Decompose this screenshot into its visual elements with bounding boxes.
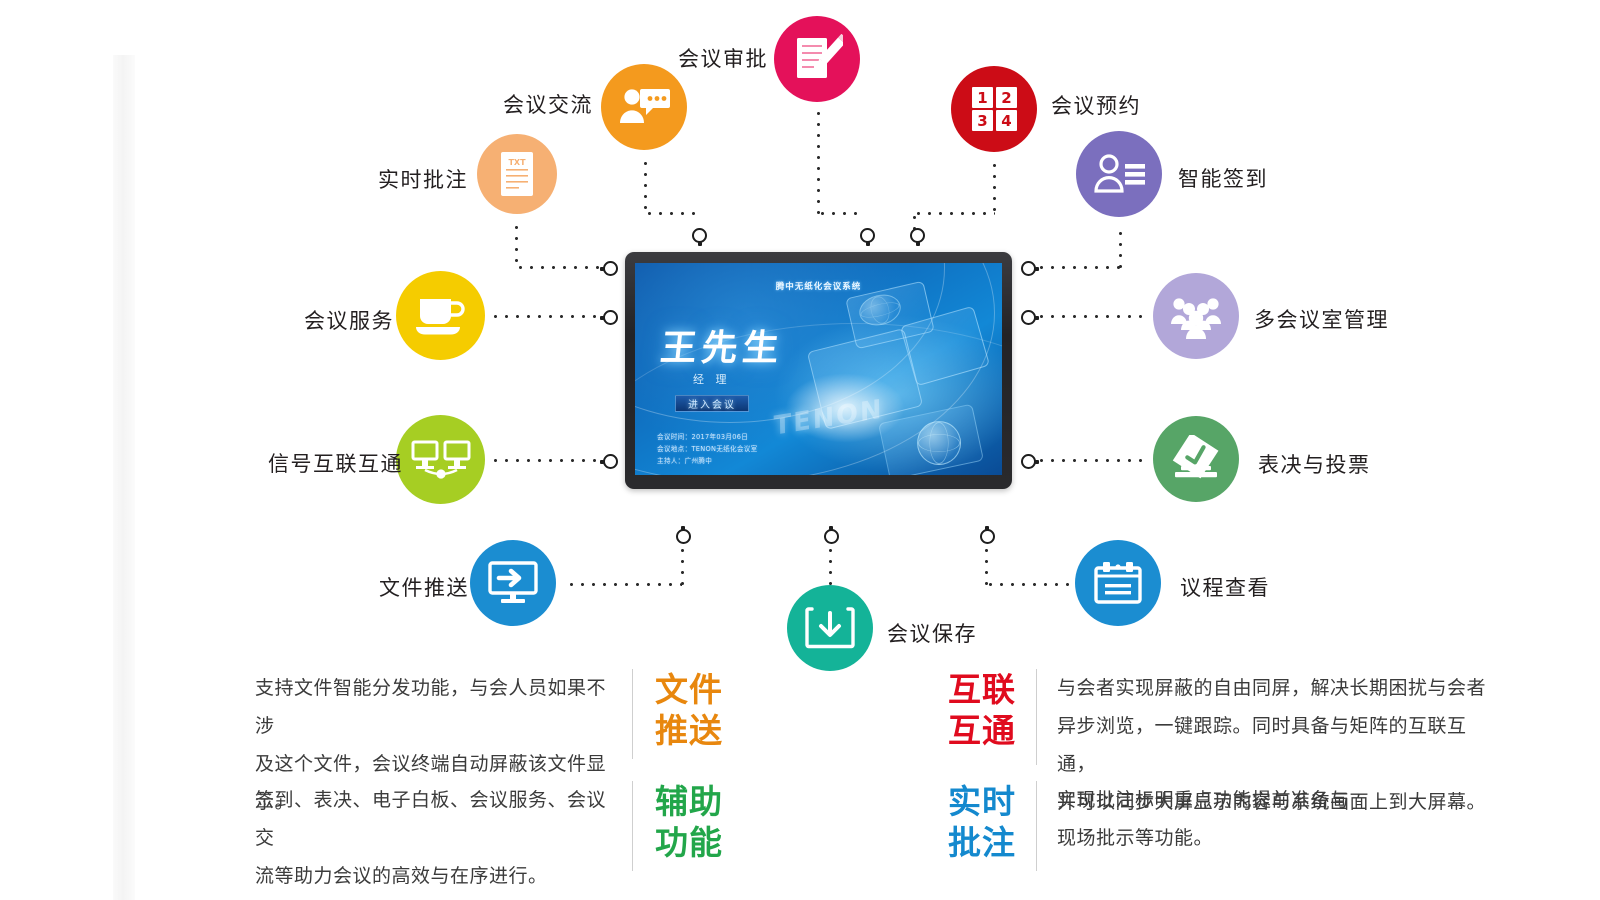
connector-endpoint xyxy=(980,529,995,544)
connector-line xyxy=(1119,228,1122,268)
coffee-cup-icon xyxy=(396,271,485,360)
feature-desc-aux-function: 签到、表决、电子白板、会议服务、会议交 流等助力会议的高效与在序进行。 xyxy=(255,781,610,895)
node-label-signal-interconnect: 信号互联互通 xyxy=(268,448,403,478)
two-monitors-icon xyxy=(396,415,485,504)
connector-endpoint xyxy=(860,228,875,243)
node-label-meeting-service: 会议服务 xyxy=(304,305,394,335)
svg-text:2: 2 xyxy=(1001,89,1011,107)
feature-block-realtime-annotation: 实时 批注 实现批注标明重点功能提前准备与 现场批示等功能。 xyxy=(948,781,1497,871)
display-enter-meeting-button[interactable]: 进入会议 xyxy=(675,395,749,412)
connector-endpoint xyxy=(676,529,691,544)
feature-divider xyxy=(1036,781,1037,871)
person-list-icon xyxy=(1076,131,1162,217)
connector-endpoint xyxy=(1021,261,1036,276)
connector-endpoint xyxy=(692,228,707,243)
agenda-board-icon xyxy=(1075,540,1161,626)
connector-line xyxy=(490,459,603,462)
connector-line xyxy=(490,315,603,318)
connector-line xyxy=(1036,266,1121,269)
svg-text:TXT: TXT xyxy=(508,158,526,167)
connector-endpoint xyxy=(603,310,618,325)
display-screen: TENON 腾中无纸化会议系统 王先生 经 理 进入会议 会议时间：2017年0… xyxy=(635,263,1002,475)
decorative-globe xyxy=(917,421,961,465)
display-meta-time: 会议时间：2017年03月06日 xyxy=(657,431,758,443)
display-user-role: 经 理 xyxy=(693,371,731,387)
feature-divider xyxy=(1036,669,1037,765)
chat-person-icon xyxy=(601,64,687,150)
node-label-meeting-exchange: 会议交流 xyxy=(503,89,593,119)
connector-line xyxy=(1036,459,1146,462)
txt-document-icon: TXT xyxy=(477,134,557,214)
display-meta-host: 主持人：广州腾中 xyxy=(657,455,758,467)
ballot-check-icon xyxy=(1153,416,1239,502)
calendar-grid-1234-icon: 1 2 3 4 xyxy=(951,66,1037,152)
svg-text:3: 3 xyxy=(977,112,987,130)
connector-line xyxy=(985,545,988,585)
connector-line xyxy=(644,212,700,215)
connector-line xyxy=(681,545,684,585)
feature-block-aux-function: 签到、表决、电子白板、会议服务、会议交 流等助力会议的高效与在序进行。 辅助 功… xyxy=(255,781,723,895)
feature-heading-realtime-annotation: 实时 批注 xyxy=(948,781,1016,863)
feature-heading-file-push: 文件 推送 xyxy=(655,669,723,751)
svg-text:1: 1 xyxy=(977,89,987,107)
connector-endpoint xyxy=(1021,454,1036,469)
display-title: 腾中无纸化会议系统 xyxy=(635,280,1002,292)
feature-heading-aux-function: 辅助 功能 xyxy=(655,781,723,863)
connector-endpoint xyxy=(1021,310,1036,325)
feature-divider xyxy=(632,781,633,871)
feature-blocks: 支持文件智能分发功能，与会人员如果不涉 及这个文件，会议终端自动屏蔽该文件显示。… xyxy=(0,655,1600,900)
connector-line xyxy=(985,583,1070,586)
feature-divider xyxy=(632,669,633,759)
people-group-icon xyxy=(1153,273,1239,359)
node-label-file-push: 文件推送 xyxy=(379,572,469,602)
display-meta: 会议时间：2017年03月06日 会议地点：TENON无纸化会议室 主持人：广州… xyxy=(657,431,758,467)
connector-line xyxy=(566,583,682,586)
display-meta-place: 会议地点：TENON无纸化会议室 xyxy=(657,443,758,455)
monitor-arrow-icon xyxy=(470,540,556,626)
node-label-meeting-save: 会议保存 xyxy=(887,618,977,648)
svg-text:4: 4 xyxy=(1001,112,1011,130)
feature-desc-realtime-annotation: 实现批注标明重点功能提前准备与 现场批示等功能。 xyxy=(1057,781,1497,857)
feature-heading-interconnect: 互联 互通 xyxy=(948,669,1016,751)
node-label-vote-and-poll: 表决与投票 xyxy=(1258,449,1371,479)
connector-line xyxy=(515,266,603,269)
node-label-agenda-view: 议程查看 xyxy=(1180,572,1270,602)
node-label-meeting-approval: 会议审批 xyxy=(678,43,768,73)
connector-endpoint xyxy=(910,228,925,243)
connector-line xyxy=(829,545,832,585)
document-pencil-icon xyxy=(774,16,860,102)
connector-line xyxy=(993,160,996,214)
infographic-page: TENON 腾中无纸化会议系统 王先生 经 理 进入会议 会议时间：2017年0… xyxy=(0,0,1600,900)
connector-endpoint xyxy=(603,454,618,469)
node-label-multiroom-manage: 多会议室管理 xyxy=(1254,304,1389,334)
connector-line xyxy=(515,222,518,268)
connector-endpoint xyxy=(824,529,839,544)
connector-line xyxy=(913,212,995,215)
connector-endpoint xyxy=(603,261,618,276)
connector-line xyxy=(1036,315,1146,318)
connector-line xyxy=(644,158,647,214)
node-label-smart-signin: 智能签到 xyxy=(1178,163,1268,193)
connector-line xyxy=(817,108,820,214)
central-display-device: TENON 腾中无纸化会议系统 王先生 经 理 进入会议 会议时间：2017年0… xyxy=(625,252,1012,489)
connector-line xyxy=(817,212,863,215)
node-label-meeting-booking: 会议预约 xyxy=(1051,90,1141,120)
display-user-name: 王先生 xyxy=(658,319,786,371)
node-label-realtime-annotation: 实时批注 xyxy=(378,164,468,194)
